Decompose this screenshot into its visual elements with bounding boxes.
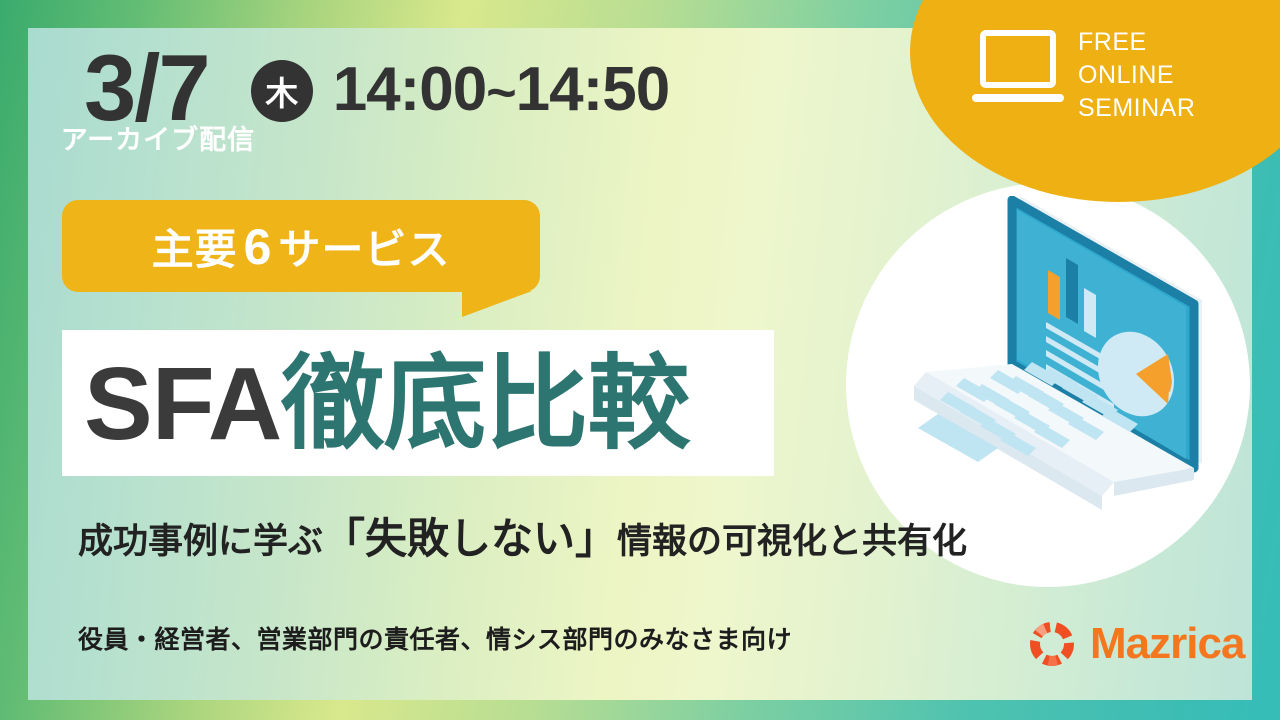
main-title-japanese: 徹底比較	[281, 346, 689, 461]
event-date: 3/7	[84, 41, 209, 135]
mazrica-ring-icon	[1026, 618, 1078, 670]
main-title: SFA徹底比較	[84, 352, 689, 455]
laptop-screen-shape	[980, 30, 1056, 88]
badge-text-lines: FREE ONLINE SEMINAR	[1078, 26, 1258, 125]
bubble-number: 6	[238, 219, 279, 275]
bubble-label: 主要6サービス	[152, 216, 451, 277]
subtitle: 成功事例に学ぶ「失敗しない」情報の可視化と共有化	[78, 505, 967, 566]
bubble-suffix: サービス	[278, 226, 450, 273]
laptop-icon	[972, 30, 1064, 108]
event-time: 14:00~14:50	[333, 59, 670, 121]
mazrica-logo: Mazrica	[1026, 618, 1244, 670]
badge-line-online: ONLINE	[1078, 59, 1258, 92]
day-of-week-badge: 木	[251, 60, 313, 122]
target-audience-line: 役員・経営者、営業部門の責任者、情シス部門のみなさま向け	[78, 620, 792, 656]
bubble-tail	[462, 291, 532, 317]
main-title-latin: SFA	[84, 346, 281, 461]
laptop-base-shape	[972, 94, 1064, 102]
services-count-bubble: 主要6サービス	[62, 200, 540, 292]
badge-line-seminar: SEMINAR	[1078, 92, 1258, 125]
date-time-row: 3/7 木 14:00~14:50	[84, 38, 669, 138]
main-title-block: SFA徹底比較	[62, 330, 774, 476]
badge-line-free: FREE	[1078, 26, 1258, 59]
subtitle-emphasis: 「失敗しない」	[323, 515, 617, 562]
seminar-banner: FREE ONLINE SEMINAR アーカイブ配信 3/7 木 14:00~…	[0, 0, 1280, 720]
time-start: 14:00	[333, 55, 487, 124]
mazrica-wordmark: Mazrica	[1090, 622, 1244, 666]
subtitle-after: 情報の可視化と共有化	[617, 522, 967, 561]
bubble-prefix: 主要	[152, 226, 238, 273]
time-end: 14:50	[516, 55, 670, 124]
subtitle-before: 成功事例に学ぶ	[78, 522, 323, 561]
time-separator: ~	[486, 64, 515, 122]
badge-content: FREE ONLINE SEMINAR	[960, 18, 1260, 188]
